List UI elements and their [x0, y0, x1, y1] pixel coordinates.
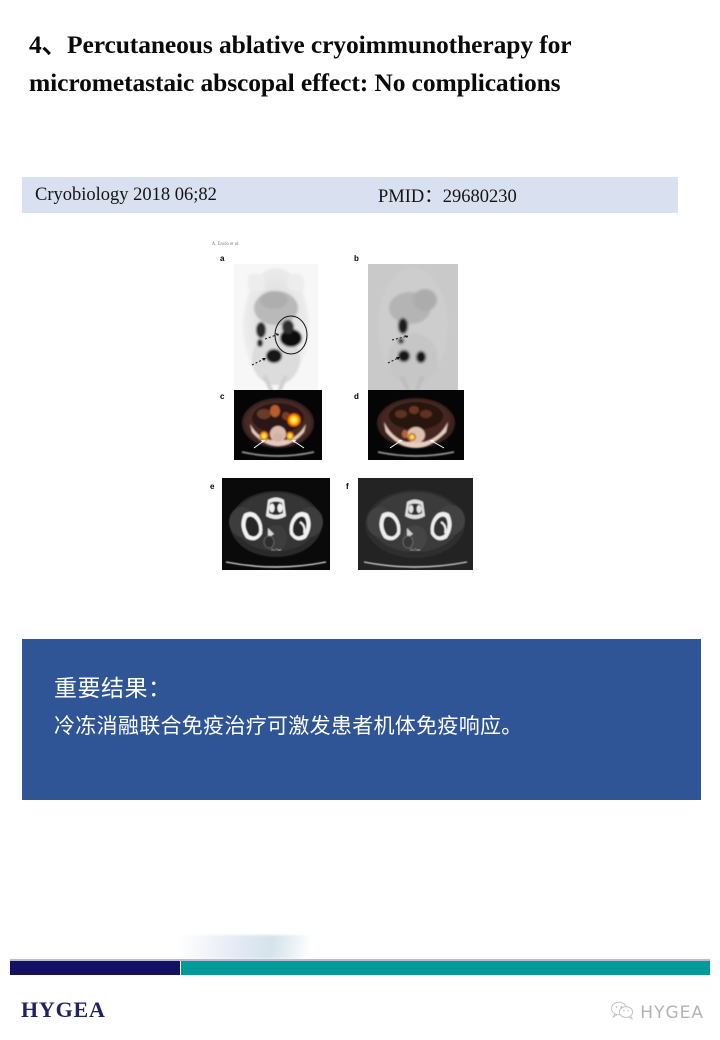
key-result-heading: 重要结果：	[54, 669, 172, 703]
panel-letter-a: a	[220, 254, 224, 263]
panel-letter-d: d	[354, 392, 359, 401]
pet-mip-pre-image	[234, 264, 318, 394]
panel-letter-c: c	[220, 392, 224, 401]
citation-bar: Cryobiology 2018 06;82 PMID：29680230	[22, 177, 678, 213]
figure-journal-header: A. Erodo et al.	[212, 240, 240, 246]
key-result-body: 冷冻消融联合免疫治疗可激发患者机体免疫响应。	[54, 710, 523, 740]
citation-pmid: PMID：29680230	[378, 182, 517, 208]
footer-brand-logo: HYGEA	[21, 997, 106, 1023]
ct-bone-window-post-image: Oc Rad	[358, 478, 473, 570]
ct-bone-window-pre-image: Oc Rad	[222, 478, 330, 570]
wechat-icon	[610, 1000, 634, 1025]
svg-text:Oc Rad: Oc Rad	[271, 548, 282, 552]
panel-letter-b: b	[354, 254, 359, 263]
figure-panel-grid: A. Erodo et al. a	[206, 238, 482, 583]
footer-bar-navy	[10, 961, 180, 975]
fused-petct-post-image	[368, 390, 464, 460]
footer-smudge	[180, 935, 310, 959]
pet-mip-post-image	[368, 264, 458, 394]
citation-journal: Cryobiology 2018 06;82	[35, 185, 217, 206]
panel-letter-f: f	[346, 482, 349, 491]
footer-wechat-block: HYGEA	[610, 1000, 704, 1025]
footer-wechat-label: HYGEA	[640, 1003, 704, 1023]
page-title: 4、Percutaneous ablative cryoimmunotherap…	[29, 26, 679, 102]
key-result-box: 重要结果： 冷冻消融联合免疫治疗可激发患者机体免疫响应。	[22, 639, 701, 800]
svg-text:Oc Rad: Oc Rad	[410, 548, 421, 552]
fused-petct-pre-image	[234, 390, 322, 460]
panel-letter-e: e	[210, 482, 214, 491]
footer-bar-teal	[181, 961, 710, 975]
